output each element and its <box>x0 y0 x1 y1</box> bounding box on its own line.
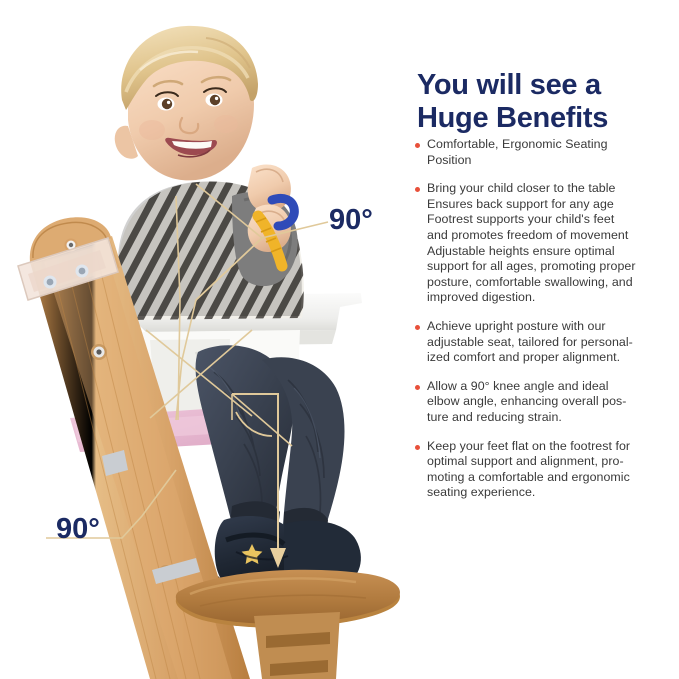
product-photo: 90° 90° <box>0 0 410 679</box>
headline-line-2: Huge Benefits <box>417 102 675 135</box>
bullet-dot-icon <box>415 325 420 330</box>
bullet-dot-icon <box>415 143 420 148</box>
list-item: Allow a 90° knee angle and ideal elbow a… <box>410 379 679 426</box>
page-title: You will see a Huge Benefits <box>417 69 675 135</box>
list-item: Bring your child closer to the table Ens… <box>410 181 679 306</box>
angle-label-knee: 90° <box>56 515 100 544</box>
list-item-text: Keep your feet flat on the footrest for … <box>427 439 679 501</box>
highchair-photo-illustration <box>0 0 410 679</box>
list-item-text: Allow a 90° knee angle and ideal elbow a… <box>427 379 679 426</box>
benefits-text-panel: You will see a Huge Benefits Comfortable… <box>410 0 679 679</box>
list-item: Comfortable, Ergonomic Seating Position <box>410 137 679 168</box>
list-item-text: Bring your child closer to the table Ens… <box>427 181 679 306</box>
angle-label-elbow: 90° <box>329 206 373 235</box>
list-item: Keep your feet flat on the footrest for … <box>410 439 679 501</box>
list-item-text: Comfortable, Ergonomic Seating Position <box>427 137 679 168</box>
bullet-dot-icon <box>415 445 420 450</box>
list-item-text: Achieve upright posture with our adjusta… <box>427 319 679 366</box>
bullet-dot-icon <box>415 187 420 192</box>
benefits-list: Comfortable, Ergonomic Seating Position … <box>410 137 679 514</box>
list-item: Achieve upright posture with our adjusta… <box>410 319 679 366</box>
product-benefits-infographic: 90° 90° You will see a Huge Benefits Com… <box>0 0 679 679</box>
headline-line-1: You will see a <box>417 69 601 101</box>
bullet-dot-icon <box>415 385 420 390</box>
